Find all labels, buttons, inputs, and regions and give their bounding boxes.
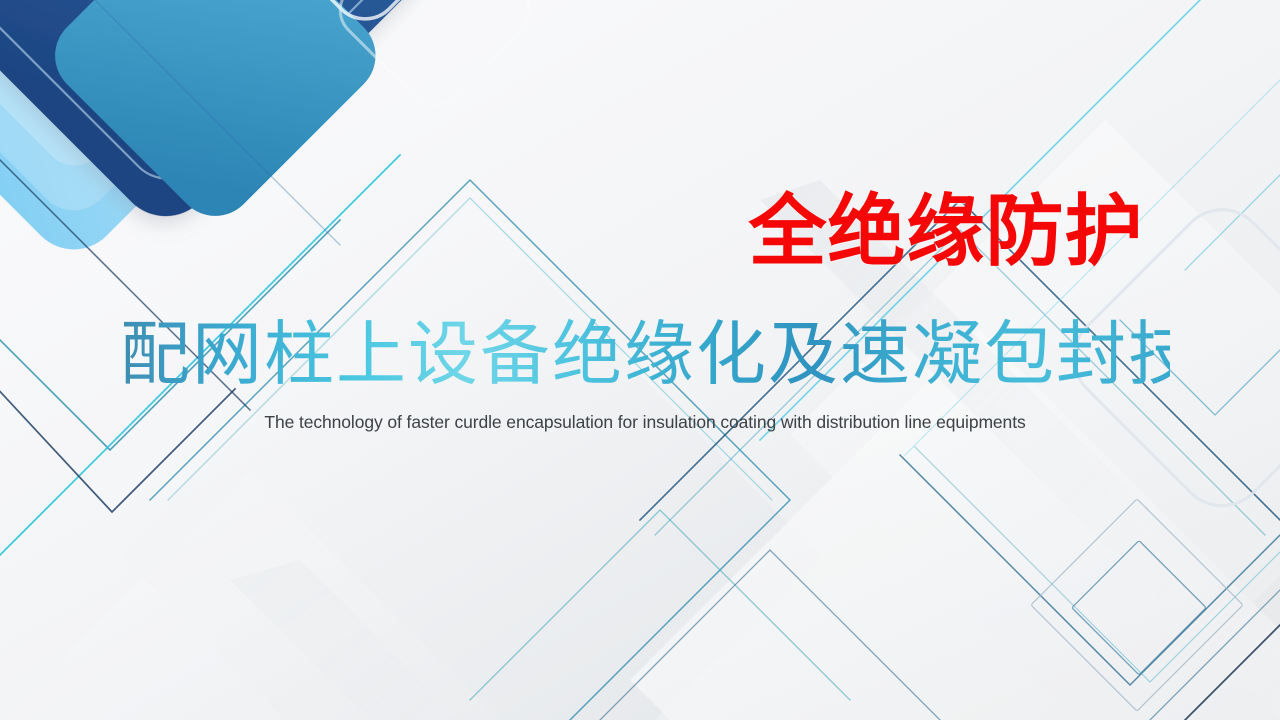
english-subtitle: The technology of faster curdle encapsul…	[140, 409, 1150, 435]
title-slide: 全绝缘防护 配网柱上设备绝缘化及速凝包封技术 The technology of…	[0, 0, 1280, 720]
page-title: 配网柱上设备绝缘化及速凝包封技术	[120, 312, 1170, 396]
red-headline: 全绝缘防护	[716, 186, 1176, 278]
